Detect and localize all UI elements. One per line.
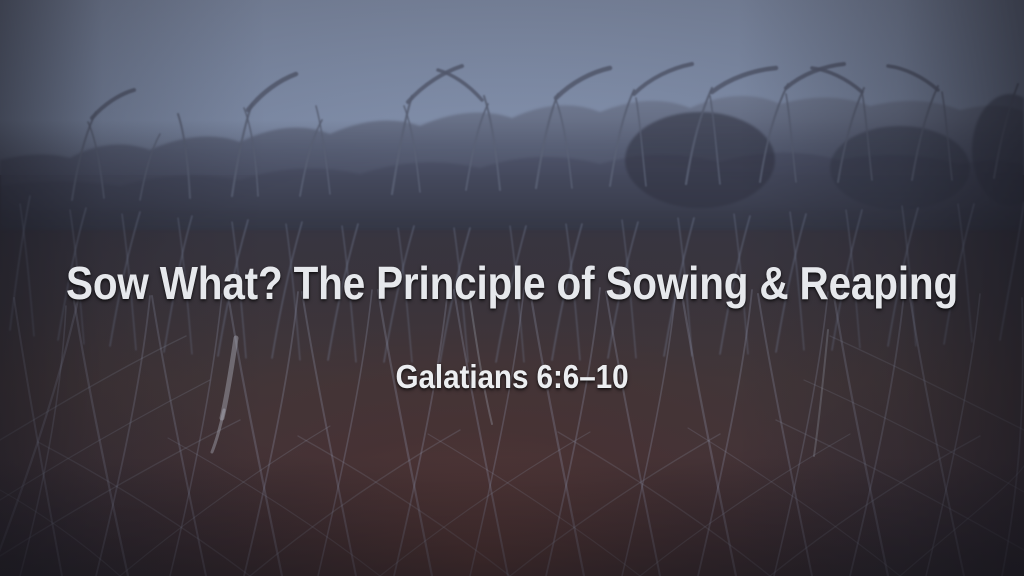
- presentation-slide: Sow What? The Principle of Sowing & Reap…: [0, 0, 1024, 576]
- slide-subtitle-scripture-reference: Galatians 6:6–10: [51, 358, 973, 396]
- slide-title: Sow What? The Principle of Sowing & Reap…: [61, 256, 962, 310]
